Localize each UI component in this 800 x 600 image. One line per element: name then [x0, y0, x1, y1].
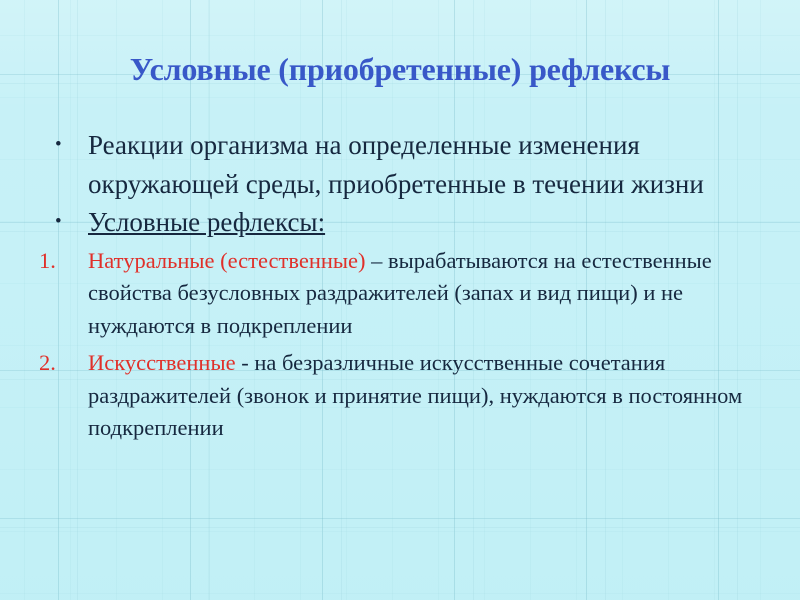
bullet-glyph-icon: • [55, 126, 62, 165]
list-marker: 1. [39, 245, 56, 278]
numbered-item-artificial: 2. Искусственные - на безразличные искус… [0, 347, 800, 445]
list-marker: 2. [39, 347, 56, 380]
bullet-item-text: Реакции организма на определенные измене… [88, 130, 704, 199]
numbered-item-natural: 1. Натуральные (естественные) – вырабаты… [0, 245, 800, 343]
bullet-item-reactions: • Реакции организма на определенные изме… [0, 126, 800, 203]
bullet-glyph-icon: • [55, 203, 62, 242]
numbered-list: 1. Натуральные (естественные) – вырабаты… [0, 245, 800, 446]
slide-title: Условные (приобретенные) рефлексы [40, 52, 760, 88]
numbered-item-highlight: Искусственные [88, 350, 241, 375]
bullet-list: • Реакции организма на определенные изме… [0, 126, 800, 242]
bullet-item-conditioned-reflexes: • Условные рефлексы: [0, 203, 800, 242]
slide-canvas: Условные (приобретенные) рефлексы • Реак… [0, 0, 800, 600]
slide-body: • Реакции организма на определенные изме… [0, 126, 800, 449]
bullet-item-text: Условные рефлексы: [88, 207, 325, 237]
numbered-item-highlight: Натуральные (естественные) [88, 248, 366, 273]
